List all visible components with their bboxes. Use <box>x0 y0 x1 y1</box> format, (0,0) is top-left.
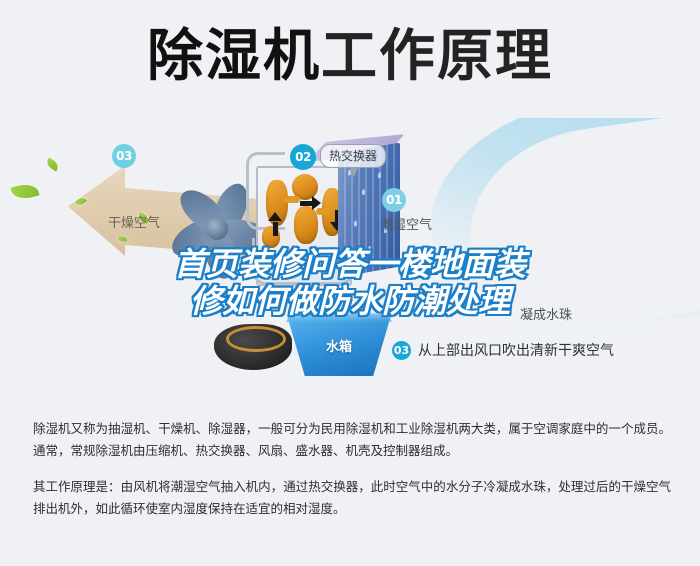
body-paragraph-1: 除湿机又称为抽湿机、干燥机、除湿器，一般可分为民用除湿机和工业除湿机两大类，属于… <box>33 418 671 462</box>
leaf-icon <box>10 181 39 203</box>
title-part-b: 工作原理 <box>321 24 553 89</box>
flow-arrow-up-icon <box>268 214 290 238</box>
bottom-note-text: 从上部出风口吹出清新干爽空气 <box>418 340 614 360</box>
badge-03-top: 03 <box>112 144 136 168</box>
label-humid-air: 潮湿空气 <box>380 214 432 233</box>
flow-arrow-right-icon <box>300 196 322 220</box>
leaf-icon <box>45 157 61 171</box>
intake-arrow-icon <box>404 266 438 278</box>
body-copy: 除湿机又称为抽湿机、干燥机、除湿器，一般可分为民用除湿机和工业除湿机两大类，属于… <box>33 418 671 526</box>
badge-01: 01 <box>382 188 406 212</box>
badge-03-bottom: 03 <box>392 341 411 360</box>
body-paragraph-2: 其工作原理是：由风机将潮湿空气抽入机内，通过热交换器，此时空气中的水分子冷凝成水… <box>33 476 671 520</box>
bottom-note: 03 从上部出风口吹出清新干爽空气 <box>392 340 614 360</box>
dehumidifier-diagram: 水箱 03 02 01 热交换器 干燥空气 潮湿空气 凝成水珠 03 从上部出风… <box>0 118 700 400</box>
water-tank-label: 水箱 <box>282 336 396 355</box>
unit-base-ring <box>226 326 286 352</box>
coil-connector <box>284 196 300 203</box>
heat-exchanger-callout: 热交换器 <box>320 144 386 168</box>
page-title: 除湿机工作原理 <box>0 22 700 92</box>
title-part-a: 除湿机 <box>147 24 321 89</box>
fan-hub <box>206 218 228 240</box>
title-text-group: 除湿机工作原理 <box>147 22 553 92</box>
label-condensate: 凝成水珠 <box>520 304 572 323</box>
badge-02: 02 <box>290 144 316 170</box>
label-dry-air: 干燥空气 <box>108 212 160 231</box>
